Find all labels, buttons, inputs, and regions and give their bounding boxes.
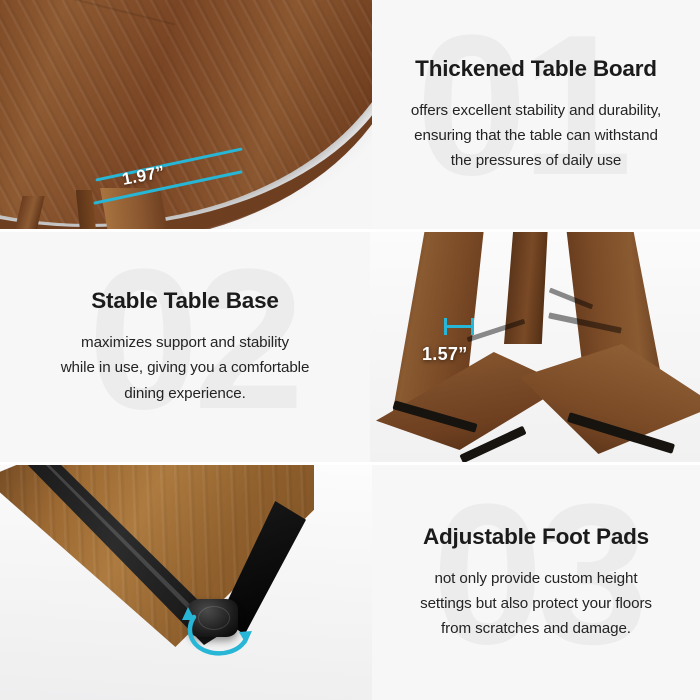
- feature-02-title: Stable Table Base: [61, 288, 310, 314]
- feature-03-description: not only provide custom height settings …: [420, 566, 652, 641]
- description-line: not only provide custom height: [434, 570, 637, 587]
- description-line: settings but also protect your floors: [420, 595, 652, 612]
- panel-divider: [0, 229, 700, 232]
- dimension-bar: [444, 325, 474, 328]
- table-board-photo: 1.97”: [0, 0, 372, 229]
- foot-pad-photo: [0, 465, 372, 700]
- description-line: while in use, giving you a comfortable: [61, 359, 310, 376]
- table-base-photo: 1.57”: [370, 232, 700, 462]
- feature-panel-02: 02 Stable Table Base maximizes support a…: [0, 232, 700, 462]
- rotation-arrows-icon: [168, 583, 264, 663]
- description-line: from scratches and damage.: [441, 620, 631, 637]
- description-line: dining experience.: [124, 385, 245, 402]
- feature-01-text: 01 Thickened Table Board offers excellen…: [372, 0, 700, 229]
- product-feature-infographic: 1.97” 01 Thickened Table Board offers ex…: [0, 0, 700, 700]
- description-line: the pressures of daily use: [451, 152, 621, 169]
- feature-panel-03: 03 Adjustable Foot Pads not only provide…: [0, 465, 700, 700]
- description-line: ensuring that the table can withstand: [414, 127, 658, 144]
- panel-divider: [0, 462, 700, 465]
- dimension-cap-left: [444, 318, 447, 335]
- description-line: offers excellent stability and durabilit…: [411, 102, 661, 119]
- feature-01-title: Thickened Table Board: [411, 56, 661, 82]
- feature-01-description: offers excellent stability and durabilit…: [411, 98, 661, 173]
- feature-03-title: Adjustable Foot Pads: [420, 524, 652, 550]
- dimension-cap-right: [471, 318, 474, 335]
- base-thickness-label: 1.57”: [422, 344, 468, 365]
- feature-02-text: 02 Stable Table Base maximizes support a…: [0, 232, 370, 462]
- feature-02-description: maximizes support and stability while in…: [61, 330, 310, 405]
- feature-panel-01: 1.97” 01 Thickened Table Board offers ex…: [0, 0, 700, 229]
- feature-03-text: 03 Adjustable Foot Pads not only provide…: [372, 465, 700, 700]
- description-line: maximizes support and stability: [81, 334, 289, 351]
